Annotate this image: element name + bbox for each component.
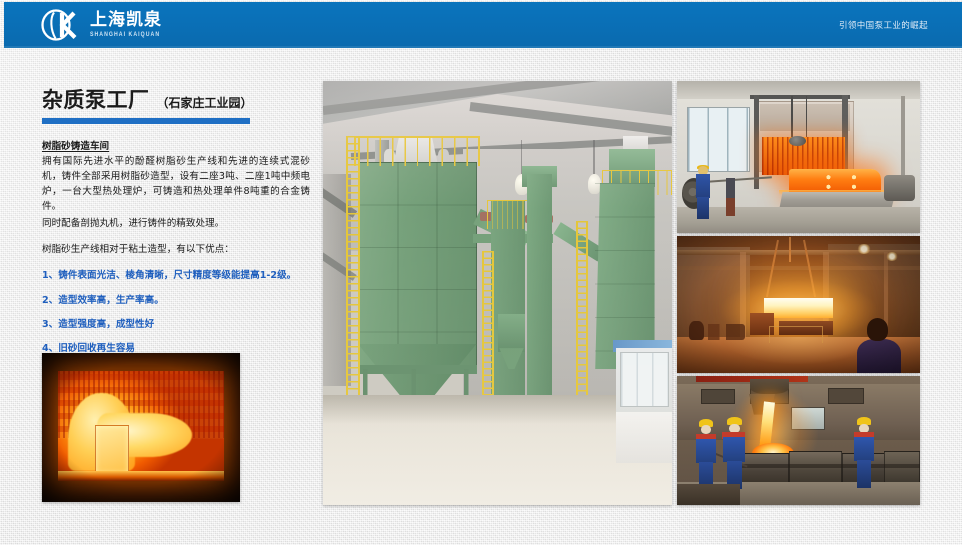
kaiquan-k-emblem-icon bbox=[40, 9, 84, 41]
furnace-frame bbox=[750, 95, 850, 100]
sand-mold-box bbox=[884, 451, 920, 485]
photo-crane-lift-billet bbox=[677, 236, 920, 373]
worker-legs bbox=[697, 197, 708, 220]
body-paragraph-2: 同时配备剖抛丸机，进行铸件的精致处理。 bbox=[42, 217, 310, 232]
photo-sand-plant bbox=[323, 81, 672, 505]
foundry-worker bbox=[721, 417, 748, 489]
photo-haze-overlay bbox=[323, 81, 672, 505]
page-subtitle: （石家庄工业园） bbox=[157, 94, 253, 111]
crane-hook bbox=[789, 136, 806, 147]
equipment-drum bbox=[884, 175, 916, 201]
body-paragraph-3: 树脂砂生产线相对于粘土造型，有以下优点： bbox=[42, 243, 310, 258]
worker-legs bbox=[857, 460, 872, 488]
second-worker-legs bbox=[726, 198, 734, 216]
header-slogan: 引领中国泵工业的崛起 bbox=[839, 2, 928, 48]
mold-flask-band bbox=[740, 464, 920, 468]
advantages-list: 1、铸件表面光洁、棱角清晰，尺寸精度等级能提高1-2级。 2、造型效率高，生产率… bbox=[42, 269, 310, 356]
body-paragraph-1: 拥有国际先进水平的酚醛树脂砂生产线和先进的连续式混砂机，铸件全部采用树脂砂造型，… bbox=[42, 155, 310, 214]
logo-english-name: SHANGHAI KAIQUAN bbox=[90, 32, 162, 39]
worker-torso bbox=[696, 439, 715, 464]
photo-vignette bbox=[677, 236, 920, 373]
furnace-frame bbox=[754, 95, 759, 189]
photo-heat-treatment-furnace bbox=[677, 81, 920, 233]
wall-pipe bbox=[901, 96, 906, 180]
list-item: 2、造型效率高，生产率高。 bbox=[42, 294, 310, 307]
sand-mold-box bbox=[789, 451, 842, 486]
list-item: 1、铸件表面光洁、棱角清晰，尺寸精度等级能提高1-2级。 bbox=[42, 269, 310, 282]
furnace-door bbox=[760, 104, 850, 131]
worker-torso bbox=[696, 174, 709, 198]
factory-window bbox=[687, 107, 750, 172]
wall-panel bbox=[828, 388, 864, 405]
text-column: 杂质泵工厂 （石家庄工业园） 树脂砂铸造车间 拥有国际先进水平的酚醛树脂砂生产线… bbox=[42, 84, 310, 367]
photo-vignette bbox=[42, 353, 240, 502]
photo-furnace-interior bbox=[42, 353, 240, 502]
second-worker-torso bbox=[726, 178, 736, 199]
foreground-equipment bbox=[677, 484, 740, 505]
page-title: 杂质泵工厂 bbox=[42, 84, 150, 114]
worker-torso bbox=[723, 437, 745, 462]
hoist-chain bbox=[791, 96, 793, 137]
foundry-worker bbox=[852, 417, 876, 488]
casting-bore-rings bbox=[818, 172, 876, 192]
company-logo[interactable]: 上海凯泉 SHANGHAI KAIQUAN bbox=[40, 9, 162, 41]
foundry-worker bbox=[694, 419, 718, 491]
workshop-floor bbox=[677, 207, 920, 233]
slide-canvas: 上海凯泉 SHANGHAI KAIQUAN 引领中国泵工业的崛起 杂质泵工厂 （… bbox=[0, 0, 962, 545]
list-item: 3、造型强度高，成型性好 bbox=[42, 318, 310, 331]
title-underline-rule bbox=[42, 118, 250, 124]
page-header: 上海凯泉 SHANGHAI KAIQUAN 引领中国泵工业的崛起 bbox=[4, 2, 962, 48]
worker-torso bbox=[854, 437, 873, 461]
title-row: 杂质泵工厂 （石家庄工业园） bbox=[42, 84, 310, 114]
section-heading: 树脂砂铸造车间 bbox=[42, 138, 310, 152]
photo-molten-metal-pouring bbox=[677, 376, 920, 505]
logo-chinese-name: 上海凯泉 bbox=[90, 12, 162, 29]
hoist-chain bbox=[806, 96, 808, 137]
